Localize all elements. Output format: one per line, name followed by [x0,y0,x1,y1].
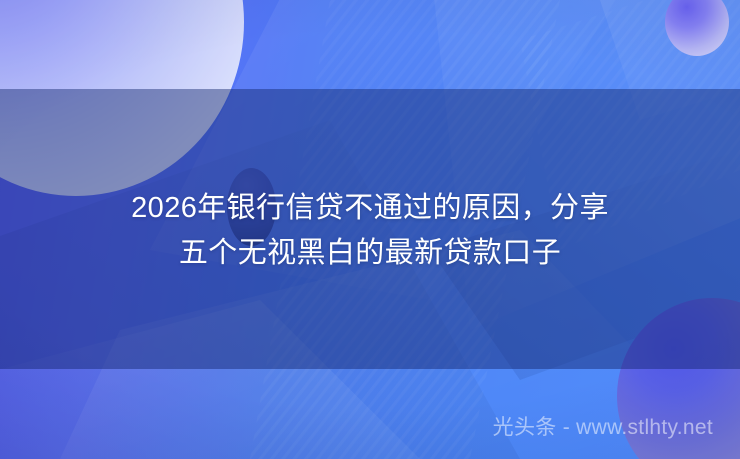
cover-title-line-2: 五个无视黑白的最新贷款口子 [22,231,718,276]
cover-image: 2026年银行信贷不通过的原因，分享 五个无视黑白的最新贷款口子 光头条 - w… [0,0,740,459]
cover-title-line-1: 2026年银行信贷不通过的原因，分享 [22,186,718,231]
site-watermark: 光头条 - www.stlhty.net [493,415,713,441]
cover-title: 2026年银行信贷不通过的原因，分享 五个无视黑白的最新贷款口子 [0,186,740,276]
